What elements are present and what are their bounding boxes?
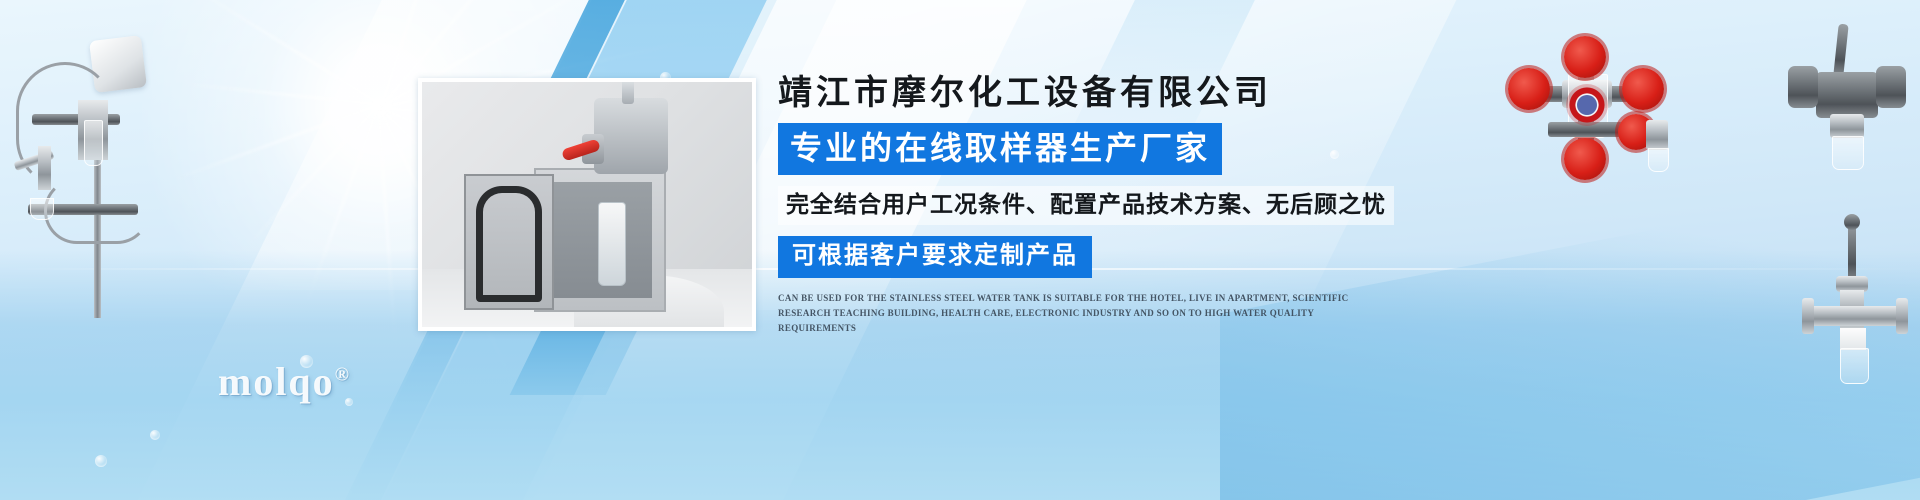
watermark-logo: molqo® [218,358,351,405]
lever-valve-product [1790,30,1910,170]
water-drop-icon [150,430,160,440]
water-drop-icon [95,455,107,467]
headline: 专业的在线取样器生产厂家 [778,123,1222,175]
bottom-valve-product [1800,228,1910,388]
english-description: CAN BE USED FOR THE STAINLESS STEEL WATE… [778,291,1378,336]
promo-banner: 靖江市摩尔化工设备有限公司 专业的在线取样器生产厂家 完全结合用户工况条件、配置… [0,0,1920,500]
registered-mark-icon: ® [335,365,351,386]
subheadline: 完全结合用户工况条件、配置产品技术方案、无后顾之忧 [778,186,1394,225]
cross-valve-product [1500,40,1680,170]
center-product-photo [418,78,756,331]
banner-copy: 靖江市摩尔化工设备有限公司 专业的在线取样器生产厂家 完全结合用户工况条件、配置… [778,74,1398,336]
tagline-badge: 可根据客户要求定制产品 [778,236,1092,278]
company-name: 靖江市摩尔化工设备有限公司 [778,74,1398,113]
brand-seal-icon [1566,84,1608,126]
left-product-sampler [10,28,180,318]
watermark-text: molqo [218,359,335,404]
